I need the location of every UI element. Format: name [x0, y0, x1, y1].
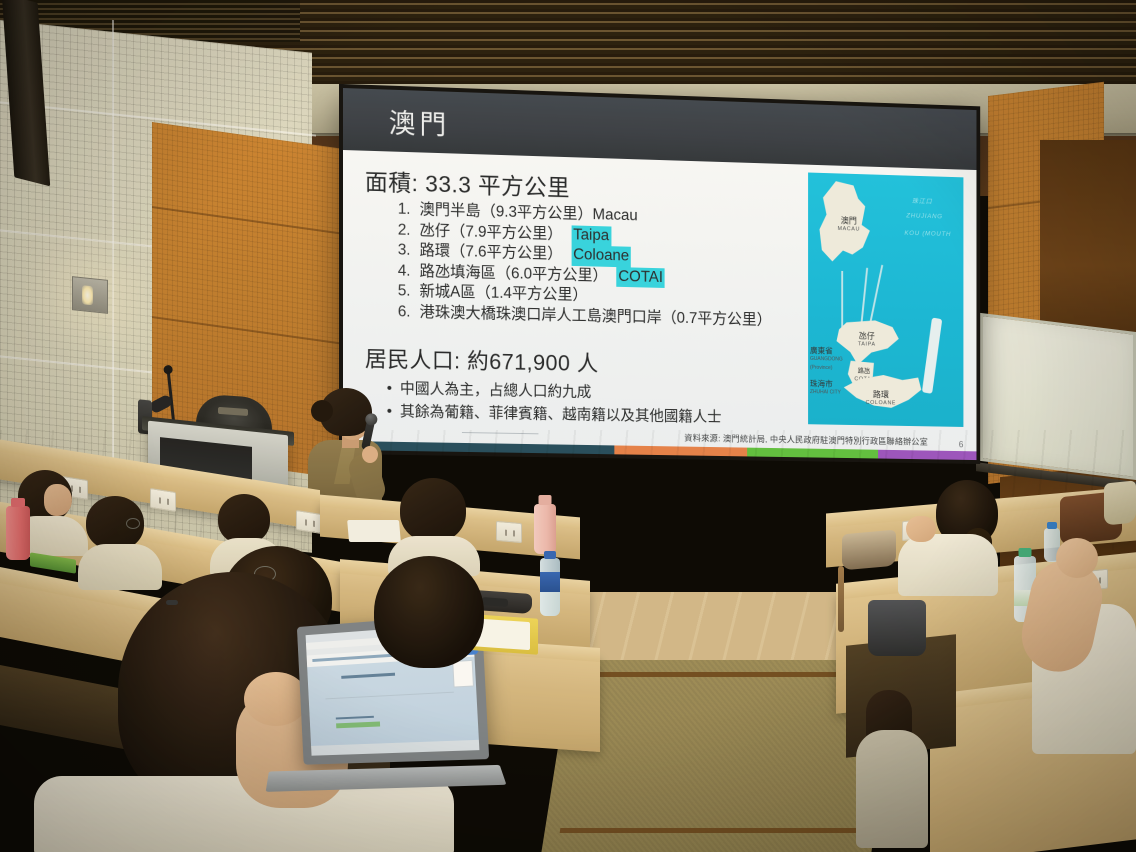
student-torso — [898, 534, 998, 596]
laptop-taskbar — [311, 740, 479, 756]
desk-power-outlet — [150, 488, 176, 512]
map-water-label-1: ZHUJIANG — [906, 212, 942, 220]
slide-population-heading: 居民人口: 約671,900 人 — [365, 341, 599, 378]
student-head — [218, 494, 270, 544]
slide-area-item-highlight: Taipa — [571, 225, 611, 246]
student-hand-foreground — [244, 672, 308, 726]
aisle-step-nose — [566, 672, 883, 677]
bottle-cap — [11, 498, 25, 507]
student-torso — [78, 544, 162, 590]
map-label-taipa: 氹仔TAIPA — [846, 331, 888, 349]
map-bridge-sai-van — [841, 271, 843, 331]
slide-area-item-number: 4. — [395, 261, 411, 282]
wall-seam-vertical — [112, 20, 114, 490]
student-hand-right-foreground — [1056, 538, 1098, 578]
bottle-cap — [544, 551, 556, 559]
wall-sconce-light — [72, 276, 108, 314]
thermos-cap — [539, 495, 552, 505]
map-label-macau: 澳門MACAU — [829, 216, 869, 235]
handbag-leather — [842, 530, 896, 571]
map-water-label-0: 珠江口 — [912, 195, 933, 205]
laptop-doc-rule — [325, 692, 453, 700]
student-glasses — [126, 518, 140, 529]
thermos-pink — [534, 504, 556, 554]
slide-population-item: 其餘為葡籍、菲律賓籍、越南籍以及其他國籍人士 — [387, 400, 722, 429]
lecture-hall-photo: 澳門 面積: 33.3 平方公里 1.澳門半島（9.3平方公里）Macau2.氹… — [0, 0, 1136, 852]
water-bottle-pink — [6, 506, 30, 560]
laptop-doc-highlight — [336, 721, 380, 728]
map-outside-label-zhuhai: 珠海市ZHUHAI CITY — [810, 379, 841, 397]
student-head — [374, 556, 484, 668]
desk-power-outlet — [496, 521, 522, 543]
map-water-label-2: KOU (MOUTH — [904, 230, 951, 238]
laptop-sidebar-panel — [452, 660, 474, 688]
slide-area-item-number: 6. — [395, 302, 411, 323]
water-bottle-blue-label — [540, 558, 560, 616]
slide-area-list: 1.澳門半島（9.3平方公里）Macau2.氹仔（7.9平方公里）Taipa3.… — [395, 200, 772, 331]
slide-area-item-number: 2. — [395, 220, 411, 241]
presenter-hand — [362, 446, 378, 463]
slide-area-item-number: 3. — [395, 240, 411, 261]
slide-area-heading: 面積: 33.3 平方公里 — [365, 163, 570, 203]
map-label-coloane: 路環COLOANE — [855, 390, 906, 408]
slide-title: 澳門 — [389, 101, 450, 142]
laptop-doc-heading — [341, 673, 395, 679]
slide-population-list: 中國人為主，占總人口約九成其餘為葡籍、菲律賓籍、越南籍以及其他國籍人士 — [387, 377, 722, 429]
handbag-strap — [838, 566, 844, 632]
bottle-cap — [1019, 548, 1032, 557]
desk-power-outlet — [296, 510, 322, 534]
map-outside-label-guangdong: 廣東省GUANGDONG(Province) — [810, 346, 843, 373]
slide-area-item-highlight: COTAI — [616, 267, 665, 288]
slide-body: 面積: 33.3 平方公里 1.澳門半島（9.3平方公里）Macau2.氹仔（7… — [343, 150, 976, 460]
slide-area-item-number: 1. — [395, 200, 411, 221]
student-head — [400, 478, 466, 542]
aisle-step-nose — [560, 828, 891, 833]
laptop-doc-line — [336, 716, 374, 720]
backpack-on-floor — [868, 600, 926, 656]
student-arm — [906, 516, 936, 542]
phone-on-desk — [166, 600, 178, 605]
map-bridge-hzmb-island — [922, 317, 942, 393]
macau-map-graphic: 澳門MACAU 氹仔TAIPA 路氹COTAI 路環COLOANE 珠江口 ZH… — [808, 173, 963, 427]
slide-area-item-number: 5. — [395, 281, 411, 302]
projection-screen[interactable]: 澳門 面積: 33.3 平方公里 1.澳門半島（9.3平方公里）Macau2.氹… — [343, 88, 976, 460]
backpack-cream — [1104, 480, 1136, 525]
student-face — [44, 484, 72, 516]
rear-wall-dark — [1040, 140, 1136, 350]
slide-area-item-highlight: Coloane — [571, 245, 631, 267]
presenter-hair-bun — [311, 400, 333, 422]
paper-on-desk — [347, 520, 401, 542]
bottle-cap — [1047, 522, 1057, 529]
phone-on-desk — [482, 597, 508, 607]
bottle-label — [540, 572, 560, 592]
student-legs — [856, 730, 928, 848]
